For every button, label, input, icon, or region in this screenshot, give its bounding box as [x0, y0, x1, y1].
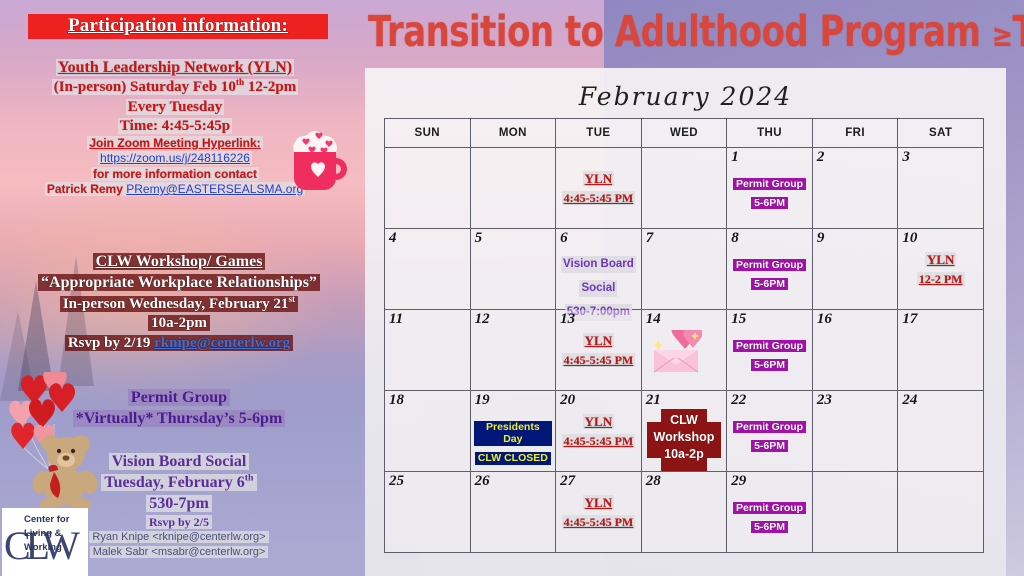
- event-yln-title: YLN: [583, 495, 614, 510]
- clw-logo-text: Center for Living & Working: [24, 513, 69, 554]
- event-permit-group[interactable]: Permit Group5-6PM: [730, 255, 809, 293]
- day-number: 11: [389, 311, 403, 328]
- calendar-day-cell[interactable]: 10YLN12-2 PM: [898, 229, 984, 310]
- event-permit-time: 5-6PM: [751, 440, 788, 452]
- day-number: 21: [646, 392, 661, 409]
- calendar-day-cell[interactable]: 1Permit Group5-6PM: [727, 148, 813, 229]
- event-yln-title: YLN: [583, 171, 614, 186]
- event-permit-time: 5-6PM: [751, 197, 788, 209]
- calendar-day-cell[interactable]: 14: [641, 310, 727, 391]
- day-number: 20: [560, 392, 575, 409]
- page-title-tap: TAP: [1012, 8, 1024, 57]
- calendar-day-cell[interactable]: 27YLN4:45-5:45 PM: [556, 472, 642, 553]
- event-permit-time: 5-6PM: [751, 359, 788, 371]
- calendar-empty-cell[interactable]: [898, 472, 984, 553]
- event-presidents-day[interactable]: Presidents DayCLW CLOSED: [474, 421, 553, 467]
- day-number: 18: [389, 392, 404, 409]
- weekday-sat: SAT: [898, 119, 984, 148]
- event-vision-title-1: Vision Board: [561, 256, 636, 273]
- calendar-day-cell[interactable]: 19Presidents DayCLW CLOSED: [470, 391, 556, 472]
- day-number: 12: [475, 311, 490, 328]
- calendar-day-cell[interactable]: 15Permit Group5-6PM: [727, 310, 813, 391]
- event-permit-title: Permit Group: [733, 421, 806, 433]
- calendar-week-row: 252627YLN4:45-5:45 PM2829Permit Group5-6…: [385, 472, 984, 553]
- event-yln-time: 4:45-5:45 PM: [562, 191, 636, 205]
- weekday-mon: MON: [470, 119, 556, 148]
- day-number: 26: [475, 473, 490, 490]
- calendar-day-cell[interactable]: 6Vision BoardSocial530-7:00pm: [556, 229, 642, 310]
- day-number: 3: [902, 149, 910, 166]
- event-clw-closed-label: CLW CLOSED: [475, 452, 551, 464]
- event-permit-time: 5-6PM: [751, 278, 788, 290]
- clw-workshop-subtitle: “Appropriate Workplace Relationships”: [14, 273, 344, 294]
- calendar-panel: February 2024 SUN MON TUE WED THU FRI SA…: [365, 68, 1006, 576]
- event-permit-group[interactable]: Permit Group5-6PM: [730, 174, 809, 212]
- clw-workshop-info-block: CLW Workshop/ Games “Appropriate Workpla…: [14, 252, 344, 353]
- weekday-tue: TUE: [556, 119, 642, 148]
- participation-banner-label: Participation information:: [68, 15, 288, 36]
- day-number: 23: [817, 392, 832, 409]
- day-number: 14: [646, 311, 661, 328]
- event-presidents-day-label: Presidents Day: [474, 421, 553, 446]
- calendar-empty-cell[interactable]: YLN4:45-5:45 PM: [556, 148, 642, 229]
- day-number: 19: [475, 392, 490, 409]
- calendar-day-cell[interactable]: 11: [385, 310, 471, 391]
- day-number: 22: [731, 392, 746, 409]
- weekday-wed: WED: [641, 119, 727, 148]
- calendar-week-row: 1819Presidents DayCLW CLOSED20YLN4:45-5:…: [385, 391, 984, 472]
- calendar-week-row: 111213YLN4:45-5:45 PM1415Permit Group5-6…: [385, 310, 984, 391]
- day-number: 6: [560, 230, 568, 247]
- event-permit-title: Permit Group: [733, 340, 806, 352]
- hot-cocoa-mug-icon: [288, 122, 352, 206]
- day-number: 9: [817, 230, 825, 247]
- clw-workshop-time: 10a-2pm: [14, 314, 344, 334]
- calendar-day-cell[interactable]: 29Permit Group5-6PM: [727, 472, 813, 553]
- calendar-weekday-header: SUN MON TUE WED THU FRI SAT: [385, 119, 984, 148]
- event-yln[interactable]: YLN4:45-5:45 PM: [559, 494, 638, 532]
- yln-recurrence-line: Every Tuesday: [10, 98, 340, 117]
- calendar-empty-cell[interactable]: [641, 148, 727, 229]
- weekday-thu: THU: [727, 119, 813, 148]
- calendar-week-row: YLN4:45-5:45 PM1Permit Group5-6PM23: [385, 148, 984, 229]
- event-yln-title: YLN: [583, 333, 614, 348]
- calendar-day-cell[interactable]: 20YLN4:45-5:45 PM: [556, 391, 642, 472]
- event-permit-group[interactable]: Permit Group5-6PM: [730, 417, 809, 455]
- event-clw-workshop[interactable]: CLWWorkshop10a-2p: [647, 409, 721, 471]
- day-number: 15: [731, 311, 746, 328]
- calendar-day-cell[interactable]: 7: [641, 229, 727, 310]
- teddy-bear-balloons-icon: [2, 372, 114, 512]
- calendar-day-cell[interactable]: 22Permit Group5-6PM: [727, 391, 813, 472]
- yln-date-sup: th: [236, 78, 244, 88]
- calendar-day-cell[interactable]: 2: [812, 148, 898, 229]
- day-number: 13: [560, 311, 575, 328]
- day-number: 1: [731, 149, 739, 166]
- day-number: 4: [389, 230, 397, 247]
- day-number: 25: [389, 473, 404, 490]
- calendar-empty-cell[interactable]: [812, 472, 898, 553]
- calendar-day-cell[interactable]: 17: [898, 310, 984, 391]
- page-title-main: Transition to Adulthood Program: [368, 8, 980, 57]
- event-permit-title: Permit Group: [733, 259, 806, 271]
- day-number: 7: [646, 230, 654, 247]
- calendar-grid: SUN MON TUE WED THU FRI SAT YLN4:45-5:45…: [384, 118, 984, 553]
- event-yln[interactable]: YLN4:45-5:45 PM: [559, 413, 638, 451]
- calendar-day-cell[interactable]: 26: [470, 472, 556, 553]
- event-permit-title: Permit Group: [733, 502, 806, 514]
- yln-date-line: (In-person) Saturday Feb 10th 12-2pm: [10, 78, 340, 97]
- day-number: 8: [731, 230, 739, 247]
- clw-date-sup: st: [288, 295, 295, 305]
- calendar-day-cell[interactable]: 16: [812, 310, 898, 391]
- day-number: 28: [646, 473, 661, 490]
- calendar-day-cell[interactable]: 13YLN4:45-5:45 PM: [556, 310, 642, 391]
- event-yln-time: 4:45-5:45 PM: [562, 515, 636, 529]
- calendar-day-cell[interactable]: 5: [470, 229, 556, 310]
- day-number: 17: [902, 311, 917, 328]
- event-permit-title: Permit Group: [733, 178, 806, 190]
- participation-banner: Participation information:: [28, 14, 328, 39]
- calendar-day-cell[interactable]: 4: [385, 229, 471, 310]
- event-permit-group[interactable]: Permit Group5-6PM: [730, 336, 809, 374]
- clw-logo-icon: CLW Center for Living & Working: [2, 508, 88, 576]
- day-number: 16: [817, 311, 832, 328]
- day-number: 2: [817, 149, 825, 166]
- event-yln-title: YLN: [583, 414, 614, 429]
- calendar-week-row: 456Vision BoardSocial530-7:00pm78Permit …: [385, 229, 984, 310]
- day-number: 29: [731, 473, 746, 490]
- yln-contact-email[interactable]: PRemy@EASTERSEALSMA.org: [126, 182, 303, 196]
- event-yln[interactable]: YLN12-2 PM: [901, 251, 980, 289]
- event-yln[interactable]: YLN4:45-5:45 PM: [559, 332, 638, 370]
- calendar-day-cell[interactable]: 28: [641, 472, 727, 553]
- calendar-day-cell[interactable]: 3: [898, 148, 984, 229]
- calendar-body: YLN4:45-5:45 PM1Permit Group5-6PM23456Vi…: [385, 148, 984, 553]
- calendar-month-title: February 2024: [365, 82, 1006, 111]
- calendar-day-cell[interactable]: 12: [470, 310, 556, 391]
- calendar-empty-cell[interactable]: [470, 148, 556, 229]
- day-number: 24: [902, 392, 917, 409]
- weekday-sun: SUN: [385, 119, 471, 148]
- calendar-day-cell[interactable]: 25: [385, 472, 471, 553]
- clw-workshop-date: In-person Wednesday, February 21st: [14, 294, 344, 315]
- calendar-day-cell[interactable]: 24: [898, 391, 984, 472]
- event-yln[interactable]: YLN4:45-5:45 PM: [559, 170, 638, 208]
- sparkle-left-icon: ≥: [992, 18, 1013, 55]
- left-info-panel: Participation information: Youth Leaders…: [0, 0, 362, 576]
- event-vision-title-2: Social: [579, 280, 617, 297]
- clw-workshop-title: CLW Workshop/ Games: [14, 252, 344, 273]
- clw-rsvp-email[interactable]: rknipe@centerlw.org: [154, 335, 290, 351]
- vision-date-sup: th: [245, 473, 254, 484]
- calendar-day-cell[interactable]: 9: [812, 229, 898, 310]
- event-permit-time: 5-6PM: [751, 521, 788, 533]
- calendar-day-cell[interactable]: 8Permit Group5-6PM: [727, 229, 813, 310]
- calendar-day-cell[interactable]: 18: [385, 391, 471, 472]
- day-number: 5: [475, 230, 483, 247]
- day-number: 10: [902, 230, 917, 247]
- yln-title-line: Youth Leadership Network (YLN): [10, 58, 340, 78]
- weekday-fri: FRI: [812, 119, 898, 148]
- event-yln-title: YLN: [925, 252, 956, 267]
- event-yln-time: 4:45-5:45 PM: [562, 434, 636, 448]
- event-clw-line-2: Workshop: [647, 429, 721, 446]
- heart-envelope-icon: [650, 330, 702, 374]
- calendar-day-cell[interactable]: 23: [812, 391, 898, 472]
- day-number: 27: [560, 473, 575, 490]
- event-clw-line-3: 10a-2p: [647, 446, 721, 463]
- event-clw-line-1: CLW: [647, 412, 721, 429]
- event-permit-group[interactable]: Permit Group5-6PM: [730, 498, 809, 536]
- event-yln-time: 12-2 PM: [917, 272, 965, 286]
- clw-workshop-rsvp: Rsvp by 2/19 rknipe@centerlw.org: [14, 334, 344, 354]
- event-yln-time: 4:45-5:45 PM: [562, 353, 636, 367]
- calendar-empty-cell[interactable]: [385, 148, 471, 229]
- page-title: Transition to Adulthood Program ≥TAP≤: [368, 8, 997, 57]
- calendar-day-cell[interactable]: 21CLWWorkshop10a-2p: [641, 391, 727, 472]
- clw-workshop-cross-icon: CLWWorkshop10a-2p: [647, 409, 721, 471]
